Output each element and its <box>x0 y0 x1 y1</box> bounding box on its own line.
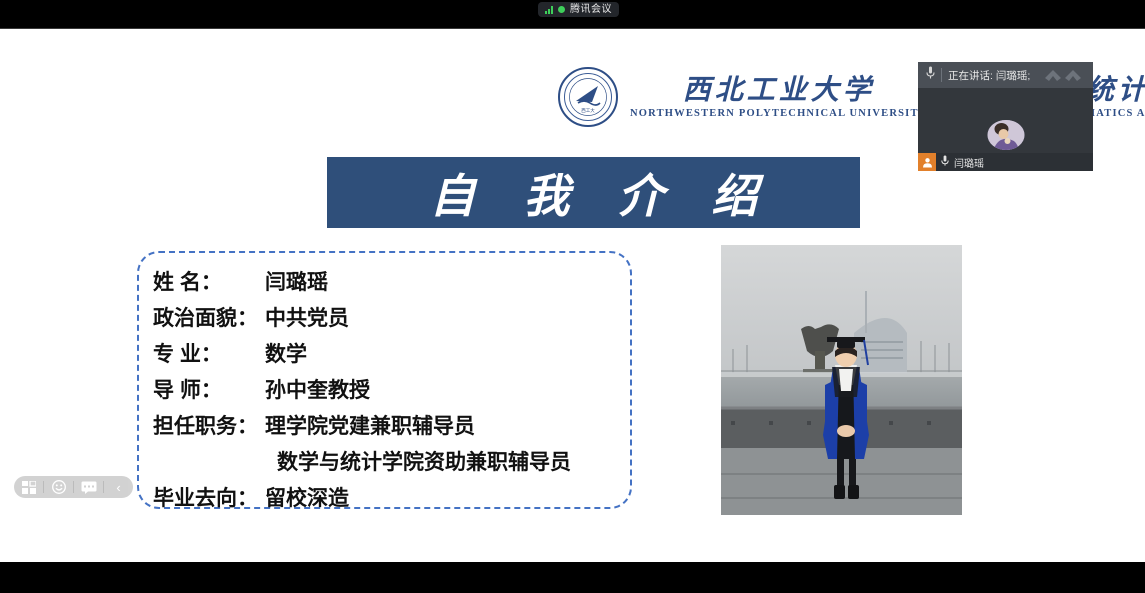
personal-info-box: 姓 名： 闫璐瑶 政治面貌： 中共党员 专 业： 数学 导 师： 孙中奎教授 担… <box>137 251 632 509</box>
crest-emblem-icon: 西工大 <box>568 77 608 117</box>
info-label: 政治面貌： <box>153 301 265 337</box>
toolbar-divider <box>73 481 74 493</box>
emoji-icon[interactable] <box>50 479 67 495</box>
collapse-icon[interactable]: ‹ <box>110 479 127 495</box>
participant-video-tile[interactable]: 正在讲话: 闫璐瑶; <box>918 62 1093 171</box>
info-label: 毕业去向： <box>153 481 265 517</box>
info-row: 姓 名： 闫璐瑶 <box>153 265 630 301</box>
info-value: 闫璐瑶 <box>265 265 328 301</box>
info-value: 理学院党建兼职辅导员 <box>265 409 475 445</box>
university-name-cn: 西北工业大学 <box>683 75 875 106</box>
info-row: 毕业去向： 留校深造 <box>153 481 630 517</box>
info-row: 专 业： 数学 <box>153 337 630 373</box>
info-row: 担任职务： 理学院党建兼职辅导员 <box>153 409 630 445</box>
page-title: 自 我 介 绍 <box>413 160 773 226</box>
avatar <box>987 120 1024 150</box>
recording-status-dot <box>558 6 565 13</box>
university-name-block: 西北工业大学 NORTHWESTERN POLYTECHNICAL UNIVER… <box>630 75 927 119</box>
signal-bars-icon <box>545 6 553 14</box>
participant-footer: 闫璐瑶 <box>918 153 1093 171</box>
slide-grid-icon[interactable] <box>20 479 37 495</box>
speaking-bar-divider <box>941 68 942 82</box>
info-row: 数学与统计学院资助兼职辅导员 <box>153 445 630 481</box>
info-value: 孙中奎教授 <box>265 373 370 409</box>
info-row: 政治面貌： 中共党员 <box>153 301 630 337</box>
microphone-icon <box>941 153 949 171</box>
info-label: 导 师： <box>153 373 265 409</box>
info-label: 专 业： <box>153 337 265 373</box>
graduation-photo <box>721 245 962 515</box>
info-label: 姓 名： <box>153 265 265 301</box>
top-black-bar: 腾讯会议 <box>0 0 1145 29</box>
university-crest-icon: 西工大 <box>558 67 618 127</box>
info-value: 中共党员 <box>265 301 349 337</box>
meeting-title-label: 腾讯会议 <box>570 5 612 15</box>
info-label: 担任职务： <box>153 409 265 445</box>
bottom-black-bar <box>0 562 1145 593</box>
toolbar-divider <box>103 481 104 493</box>
chat-icon[interactable] <box>80 479 97 495</box>
participant-name-label: 闫璐瑶 <box>954 155 984 170</box>
info-value: 数学 <box>265 337 307 373</box>
toolbar-divider <box>43 481 44 493</box>
speaking-status-bar: 正在讲话: 闫璐瑶; <box>918 62 1093 88</box>
graduation-photo-image <box>721 245 962 515</box>
info-row: 导 师： 孙中奎教授 <box>153 373 630 409</box>
university-name-en: NORTHWESTERN POLYTECHNICAL UNIVERSITY <box>630 108 927 119</box>
slide-control-toolbar[interactable]: ‹ <box>14 476 133 498</box>
microphone-icon <box>926 66 935 84</box>
meeting-status-pill[interactable]: 腾讯会议 <box>538 2 619 17</box>
svg-text:西工大: 西工大 <box>581 107 595 114</box>
person-avatar-icon <box>918 153 936 171</box>
waveform-icon <box>1043 69 1085 82</box>
speaking-status-label: 正在讲话: 闫璐瑶; <box>948 68 1030 83</box>
slide-title-banner: 自 我 介 绍 <box>327 157 860 228</box>
info-value: 留校深造 <box>265 481 349 517</box>
info-value: 数学与统计学院资助兼职辅导员 <box>277 445 571 481</box>
